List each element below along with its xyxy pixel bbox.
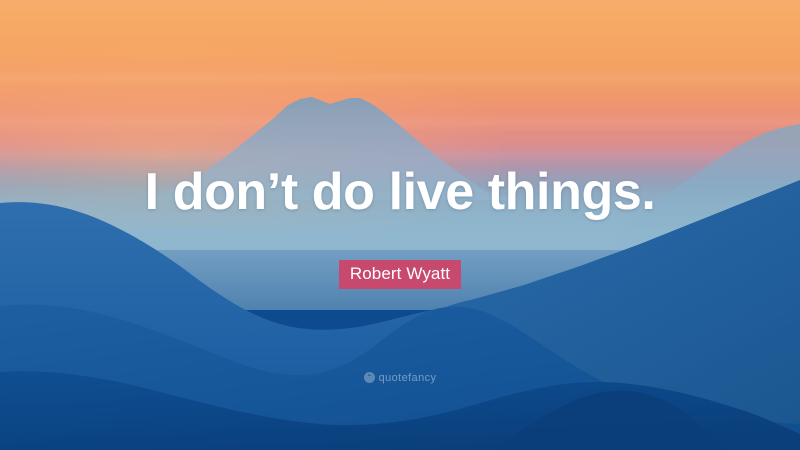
watermark-brand-label: quotefancy — [379, 372, 437, 384]
watermark-inner: “ quotefancy — [364, 372, 437, 384]
author-badge[interactable]: Robert Wyatt — [339, 260, 461, 289]
quote-text: I don’t do live things. — [0, 163, 800, 221]
author-container: Robert Wyatt — [0, 260, 800, 289]
watermark[interactable]: “ quotefancy — [0, 366, 800, 384]
quote-badge-icon: “ — [364, 372, 375, 383]
quote-poster: I don’t do live things. Robert Wyatt “ q… — [0, 0, 800, 450]
